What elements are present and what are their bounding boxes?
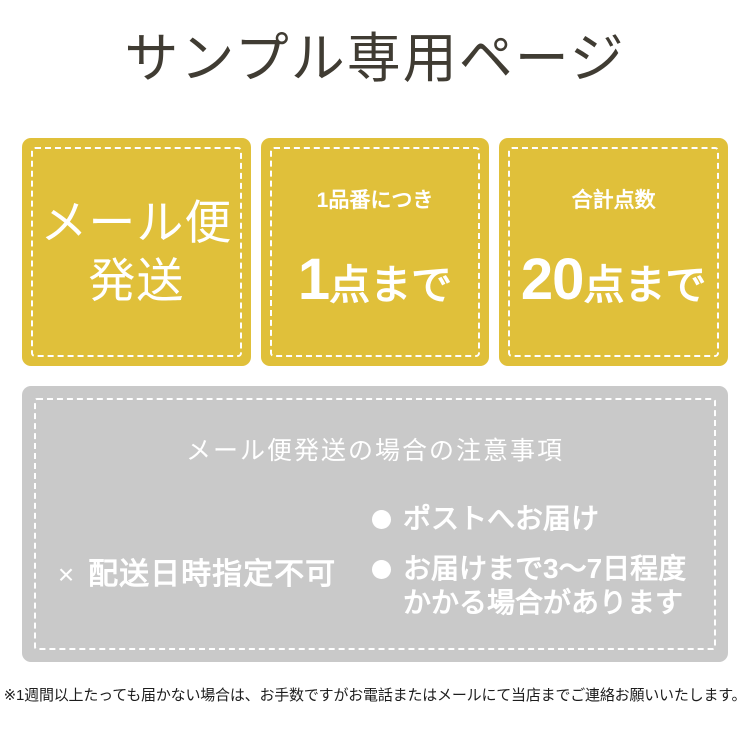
notice-heading: メール便発送の場合の注意事項 [22, 436, 728, 466]
card-per-item-limit: 1品番につき 1 点まで [261, 138, 490, 366]
notice-bullet-item: お届けまで3〜7日程度 かかる場合があります [372, 552, 728, 620]
notice-bullet-item: ポストへお届け [372, 502, 728, 536]
info-card-row: メール便 発送 1品番につき 1 点まで 合計点数 20 点まで [22, 138, 728, 366]
notice-bullet-line1: ポストへお届け [403, 503, 599, 534]
card-per-item-limit-content: 1品番につき 1 点まで [261, 138, 490, 366]
page-title: サンプル専用ページ [0, 26, 750, 92]
card-shipping-method: メール便 発送 [22, 138, 251, 366]
card-per-item-limit-unit: 点まで [329, 265, 452, 306]
notice-bullet-text: ポストへお届け [403, 502, 599, 536]
card-total-limit-caption: 合計点数 [572, 189, 656, 213]
card-total-limit-number: 20 [521, 251, 584, 309]
sample-shipping-info-banner: サンプル専用ページ メール便 発送 1品番につき 1 点まで [0, 0, 750, 750]
bullet-dot-icon [372, 510, 391, 529]
notice-bullet-text: お届けまで3〜7日程度 かかる場合があります [403, 552, 686, 620]
notice-bullet-line2: かかる場合があります [403, 586, 686, 620]
card-per-item-limit-caption: 1品番につき [317, 189, 434, 213]
footnote-text: ※1週間以上たっても届かない場合は、お手数ですがお電話またはメールにて当店までご… [0, 686, 750, 706]
notice-panel: メール便発送の場合の注意事項 × 配送日時指定不可 ポストへお届け [22, 386, 728, 662]
card-total-limit: 合計点数 20 点まで [499, 138, 728, 366]
cross-icon: × [58, 557, 75, 593]
no-date-designation-label: 配送日時指定不可 [88, 557, 336, 593]
card-shipping-method-content: メール便 発送 [22, 138, 251, 366]
card-per-item-limit-value: 1 点まで [298, 251, 452, 309]
card-shipping-method-line2: 発送 [88, 252, 184, 310]
notice-right-column: ポストへお届け お届けまで3〜7日程度 かかる場合があります [372, 498, 728, 636]
no-date-designation-item: × 配送日時指定不可 [58, 557, 336, 593]
notice-bullet-line1: お届けまで3〜7日程度 [403, 553, 686, 584]
card-total-limit-value: 20 点まで [521, 251, 707, 309]
card-total-limit-unit: 点まで [583, 265, 706, 306]
notice-left-column: × 配送日時指定不可 [22, 498, 372, 648]
notice-body: × 配送日時指定不可 ポストへお届け お届けまで3〜7日程度 かかる場合がありま… [22, 498, 728, 648]
bullet-dot-icon [372, 560, 391, 579]
card-shipping-method-line1: メール便 [40, 194, 232, 252]
card-per-item-limit-number: 1 [298, 251, 329, 309]
card-total-limit-content: 合計点数 20 点まで [499, 138, 728, 366]
